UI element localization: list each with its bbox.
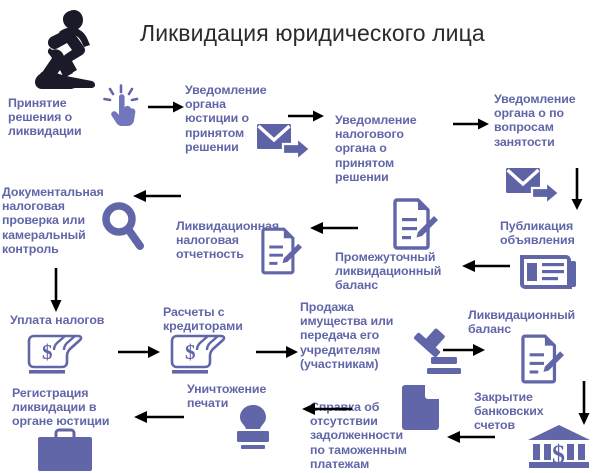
arrow-9-10 xyxy=(118,345,160,359)
step-11-label: Продажа имущества или передача его учред… xyxy=(300,300,406,371)
newspaper-icon xyxy=(519,249,579,291)
document-edit-icon-1 xyxy=(394,198,438,250)
arrow-14-15 xyxy=(302,402,352,416)
arrow-10-11 xyxy=(256,345,298,359)
arrow-3-4 xyxy=(453,117,489,131)
money-stack-icon-2: $ xyxy=(168,333,230,375)
infographic-canvas: Ликвидация юридического лица Принятие ре… xyxy=(0,0,610,473)
arrow-11-12 xyxy=(443,343,485,357)
document-edit-icon-3 xyxy=(522,334,564,384)
arrow-13-14 xyxy=(447,430,495,444)
page-title: Ликвидация юридического лица xyxy=(140,20,485,47)
arrow-12-13 xyxy=(577,381,591,425)
arrow-1-2 xyxy=(148,100,184,114)
svg-text:$: $ xyxy=(42,340,53,364)
click-hand-icon xyxy=(103,84,139,126)
arrow-5-6 xyxy=(462,259,510,273)
step-8-label: Документальная налоговая проверка или ка… xyxy=(2,185,112,256)
envelope-send-icon-1 xyxy=(255,122,317,162)
step-10-label: Расчеты с кредиторами xyxy=(163,305,259,333)
step-4-label: Уведомление органа о по вопросам занятос… xyxy=(494,92,600,149)
arrow-4-5 xyxy=(570,168,584,210)
svg-text:$: $ xyxy=(185,340,196,364)
step-3-label: Уведомление налогового органа о принятом… xyxy=(335,113,439,184)
arrow-6-7 xyxy=(310,221,358,235)
step-1-label: Принятие решения о ликвидации xyxy=(8,96,108,139)
bank-icon: $ xyxy=(524,423,594,469)
svg-text:$: $ xyxy=(552,440,565,469)
money-stack-icon-1: $ xyxy=(25,333,87,375)
step-6-label: Промежуточный ликвидационный баланс xyxy=(335,250,447,293)
briefcase-icon xyxy=(35,428,95,472)
arrow-15-16 xyxy=(134,410,184,424)
step-5-label: Публикация объявления xyxy=(500,219,600,247)
step-16-label: Регистрация ликвидации в органе юстиции xyxy=(12,386,132,429)
step-7-label: Ликвидационная налоговая отчетность xyxy=(176,219,272,262)
arrow-2-3 xyxy=(288,109,324,123)
step-9-label: Уплата налогов xyxy=(10,313,130,327)
envelope-send-icon-2 xyxy=(504,166,566,206)
step-12-label: Ликвидационный баланс xyxy=(468,308,580,336)
thinker-icon xyxy=(28,6,106,88)
arrow-8-9 xyxy=(49,268,63,312)
rubber-stamp-icon xyxy=(228,402,278,452)
